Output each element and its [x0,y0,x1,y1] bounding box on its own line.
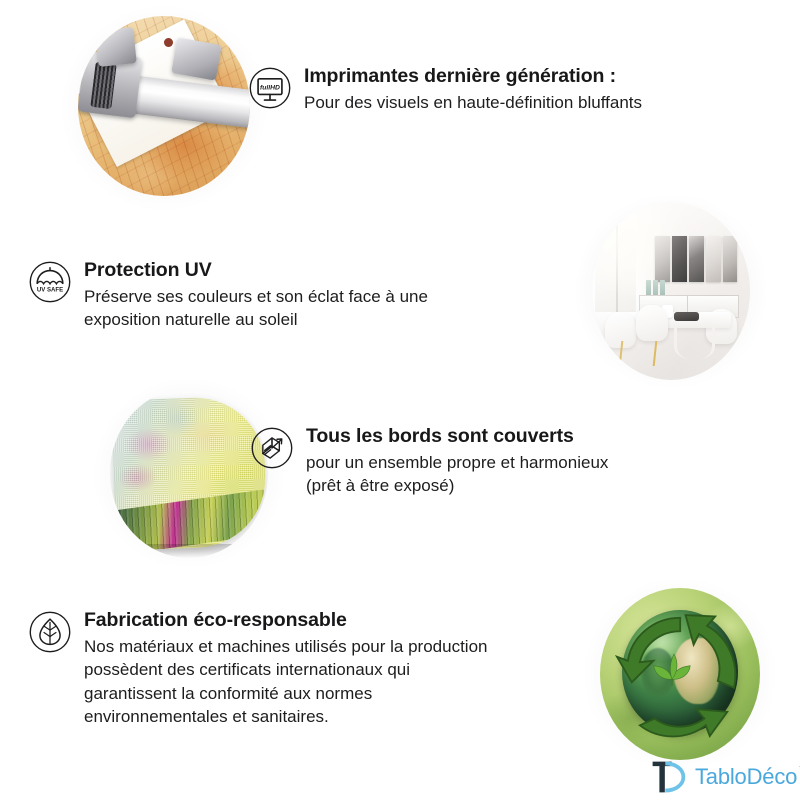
tablodeco-monogram-icon [648,758,688,796]
feature-body: Pour des visuels en haute-définition blu… [304,91,642,114]
feature-title: Fabrication éco-responsable [84,608,487,633]
feature-title: Protection UV [84,258,428,283]
eco-globe-recycling-photo [600,588,760,760]
roller-bracket-left [95,27,136,67]
leaf-icon [28,610,72,654]
tablodeco-wordmark: TabloDéco™.fr [695,764,800,790]
feature-eco-manufacturing: Fabrication éco-responsable Nos matériau… [28,608,487,729]
feature-title: Tous les bords sont couverts [306,424,608,449]
fullhd-monitor-icon: fullHD [248,66,292,110]
logo-word-second: Déco [747,764,798,790]
fullhd-label: fullHD [260,84,280,91]
canvas-panel [111,396,268,551]
canvas-wrapped-edge-icon [250,426,294,470]
leaf-sprout-icon [648,646,696,687]
infographic-page: fullHD Imprimantes dernière génération :… [0,0,800,800]
tablodeco-logo[interactable]: TabloDéco™.fr [648,758,800,796]
roller-bracket-right [172,38,222,81]
feature-text: Fabrication éco-responsable Nos matériau… [84,608,487,729]
feature-text: Imprimantes dernière génération : Pour d… [304,64,642,114]
feature-text: Protection UV Préserve ses couleurs et s… [84,258,428,332]
bright-overexposure-wash [592,202,750,380]
canvas-corner-edge-photo [110,388,268,558]
printer-roller-world-map-photo [78,16,250,196]
feature-title: Imprimantes dernière génération : [304,64,642,89]
drop-shadow [110,544,268,558]
uv-safe-umbrella-icon: UV SAFE [28,260,72,304]
roller-knob [164,38,173,47]
dining-room-wall-art-photo [592,202,750,380]
uv-safe-label: UV SAFE [37,288,63,294]
feature-text: Tous les bords sont couverts pour un ens… [306,424,608,498]
feature-body: Préserve ses couleurs et son éclat face … [84,285,428,332]
logo-word-first: Tablo [695,764,747,790]
feature-printers: fullHD Imprimantes dernière génération :… [248,64,642,114]
feature-covered-edges: Tous les bords sont couverts pour un ens… [250,424,608,498]
feature-uv-protection: UV SAFE Protection UV Préserve ses coule… [28,258,428,332]
feature-body: pour un ensemble propre et harmonieux (p… [306,451,608,498]
feature-body: Nos matériaux et machines utilisés pour … [84,635,487,729]
